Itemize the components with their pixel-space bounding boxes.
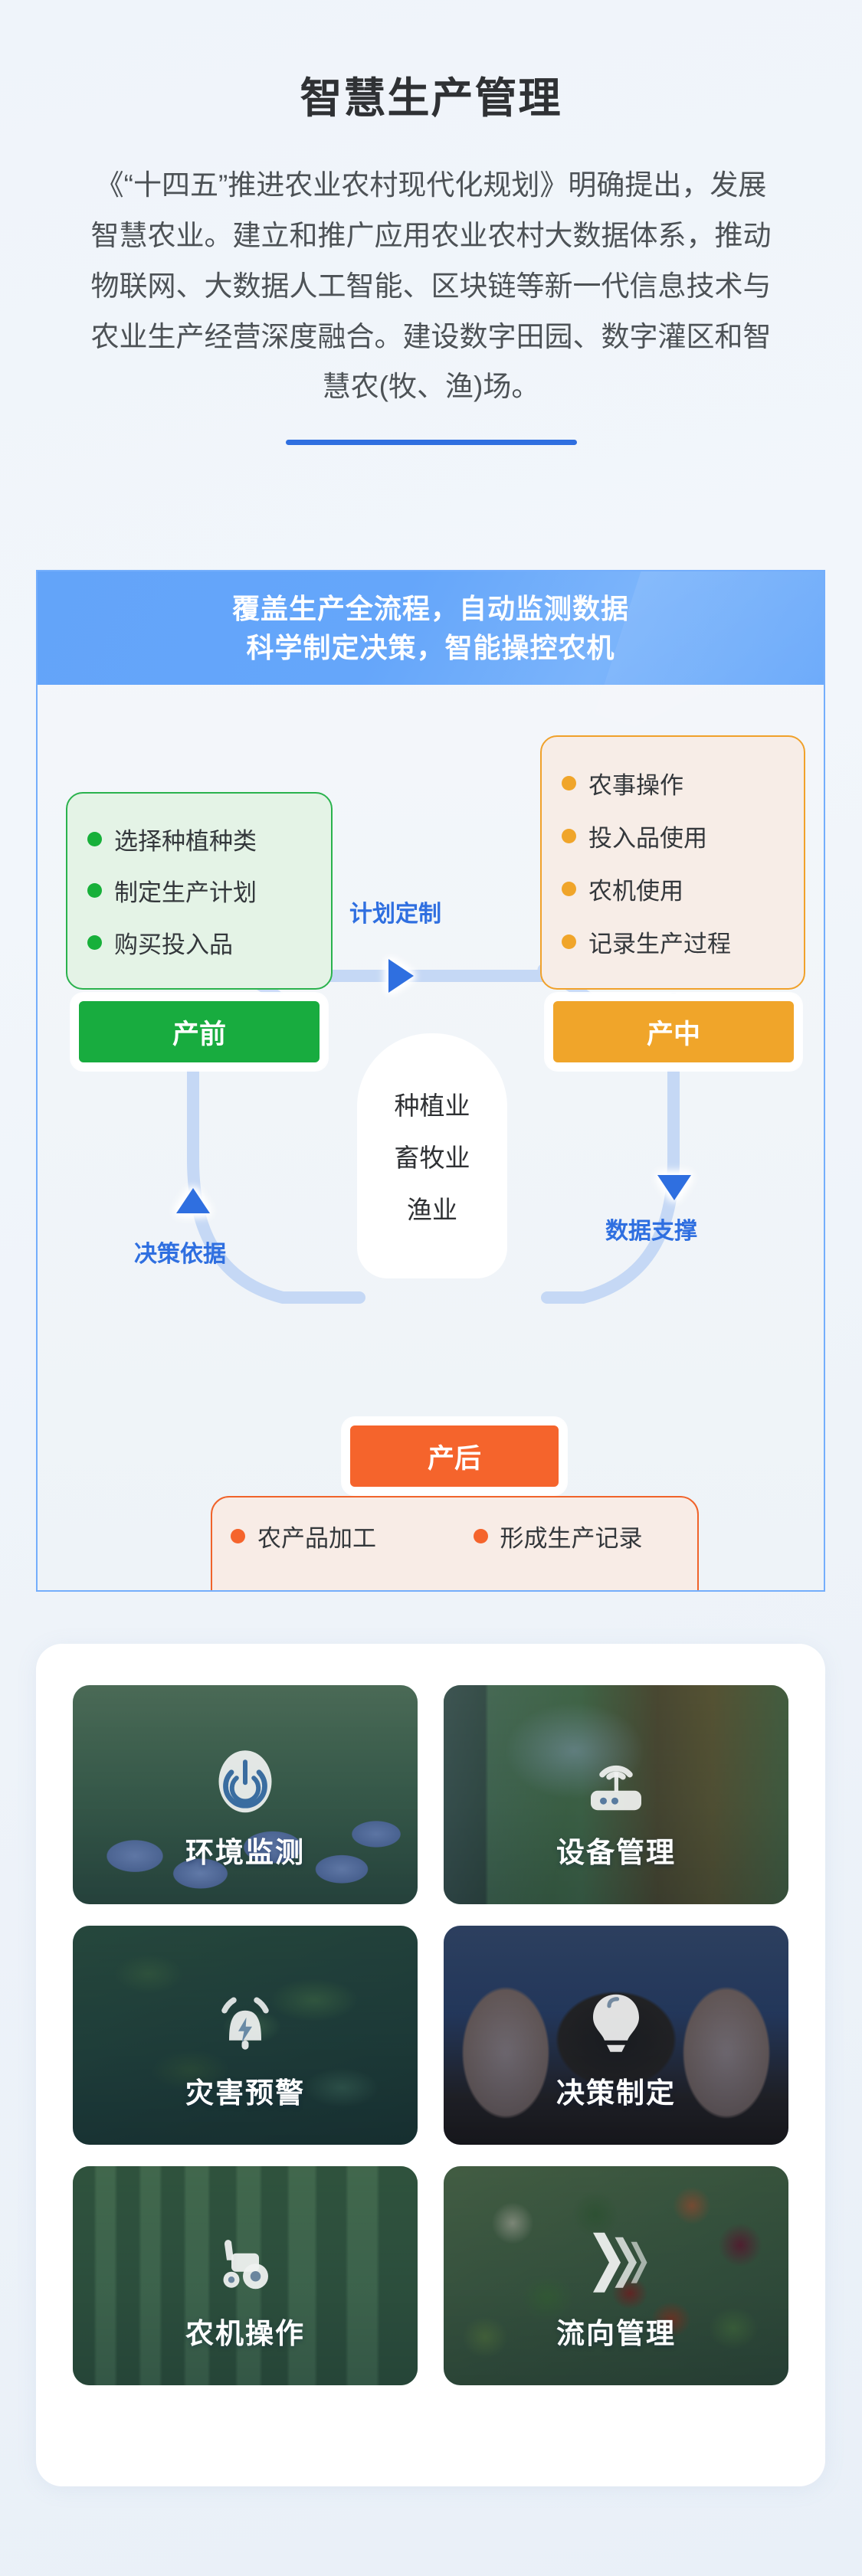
list-item-label: 制定生产计划 [114,873,257,908]
list-item: 记录生产过程 [542,925,804,959]
hero-section: 智慧生产管理 《“十四五”推进农业农村现代化规划》明确提出，发展智慧农业。建立和… [0,0,862,445]
bullet-dot-icon [562,829,576,843]
stage-button-mid[interactable]: 产中 [546,993,801,1070]
list-item: 选择种植种类 [67,822,331,856]
stage-button-pre[interactable]: 产前 [71,993,327,1070]
list-item-label: 记录生产过程 [588,925,731,959]
list-item-label: 农产品加工 [257,1519,376,1553]
flow-banner: 覆盖生产全流程，自动监测数据 科学制定决策，智能操控农机 [38,571,824,685]
feature-card-label: 决策制定 [556,2070,676,2111]
edge-label-data: 数据支撑 [605,1212,697,1245]
list-item: 产品追溯 [455,1584,698,1592]
down-arrow-icon [657,1175,691,1200]
list-item: 制定生产计划 [67,873,331,908]
alarm-bell-icon [208,1985,282,2059]
up-arrow-icon [176,1188,210,1213]
list-item-label: 形成生产记录 [500,1519,643,1553]
bullet-dot-icon [562,776,576,790]
industry-type-label: 渔业 [407,1190,457,1226]
bullet-dot-icon [562,934,576,949]
feature-panel: 环境监测 设备管理 [36,1644,825,2486]
list-item-label: 投入品使用 [588,819,707,853]
flow-banner-line-2: 科学制定决策，智能操控农机 [246,628,615,667]
stage-mid-items: 农事操作 投入品使用 农机使用 记录生产过程 [540,735,805,990]
flow-canvas: 选择种植种类 制定生产计划 购买投入品 产前 农事操作 投入品使用 [38,685,824,1592]
hero-divider [286,440,577,445]
stage-button-post-label: 产后 [428,1437,481,1476]
feature-card-label: 农机操作 [185,2310,305,2352]
stage-pre-items: 选择种植种类 制定生产计划 购买投入品 [66,792,333,990]
page-title: 智慧生产管理 [0,73,862,123]
feature-card-label: 设备管理 [556,1829,676,1871]
feature-grid: 环境监测 设备管理 [73,1685,788,2385]
industry-type-label: 畜牧业 [395,1137,470,1174]
stage-button-post[interactable]: 产后 [343,1418,566,1494]
production-flow-panel: 覆盖生产全流程，自动监测数据 科学制定决策，智能操控农机 选择种植种类 制 [36,570,825,1592]
list-item-label: 选择种植种类 [114,822,257,856]
list-item: 农机使用 [542,872,804,906]
industry-types-card: 种植业 畜牧业 渔业 [357,1033,507,1278]
list-item-label: 农事操作 [588,766,683,800]
bullet-dot-icon [87,832,102,846]
power-monitor-icon [208,1745,282,1818]
hero-description: 《“十四五”推进农业农村现代化规划》明确提出，发展智慧农业。建立和推广应用农业农… [87,160,776,412]
bullet-dot-icon [87,883,102,898]
feature-card-disaster-warning[interactable]: 灾害预警 [73,1926,418,2145]
feature-card-environment-monitoring[interactable]: 环境监测 [73,1685,418,1904]
feature-card-decision-making[interactable]: 决策制定 [444,1926,788,2145]
chevrons-flow-icon [579,2226,653,2299]
right-arrow-icon [388,959,414,993]
wifi-router-icon [579,1745,653,1818]
list-item: 农事操作 [542,766,804,800]
bullet-dot-icon [87,935,102,950]
edge-label-basis: 决策依据 [134,1235,226,1268]
feature-card-flow-management[interactable]: 流向管理 [444,2166,788,2385]
stage-post-items: 农产品加工 形成生产记录 产品仓储 产品追溯 [211,1496,699,1592]
stage-button-mid-label: 产中 [647,1013,700,1052]
list-item: 形成生产记录 [455,1519,698,1553]
lightbulb-icon [579,1985,653,2059]
feature-card-label: 灾害预警 [185,2070,305,2111]
list-item-label: 产品仓储 [257,1584,352,1592]
feature-card-machinery-operation[interactable]: 农机操作 [73,2166,418,2385]
bullet-dot-icon [562,882,576,896]
edge-label-plan: 计划定制 [349,895,441,928]
list-item-label: 购买投入品 [114,925,233,960]
list-item-label: 产品追溯 [500,1584,595,1592]
stage-button-pre-label: 产前 [172,1013,226,1052]
list-item: 投入品使用 [542,819,804,853]
feature-card-device-management[interactable]: 设备管理 [444,1685,788,1904]
industry-type-label: 种植业 [395,1085,470,1122]
list-item-label: 农机使用 [588,872,683,906]
bullet-dot-icon [474,1529,488,1543]
flow-banner-line-1: 覆盖生产全流程，自动监测数据 [232,589,629,628]
list-item: 产品仓储 [212,1584,455,1592]
bullet-dot-icon [231,1529,245,1543]
list-item: 农产品加工 [212,1519,455,1553]
feature-card-label: 流向管理 [556,2310,676,2352]
feature-card-label: 环境监测 [185,1829,305,1871]
tractor-icon [208,2226,282,2299]
list-item: 购买投入品 [67,925,331,960]
